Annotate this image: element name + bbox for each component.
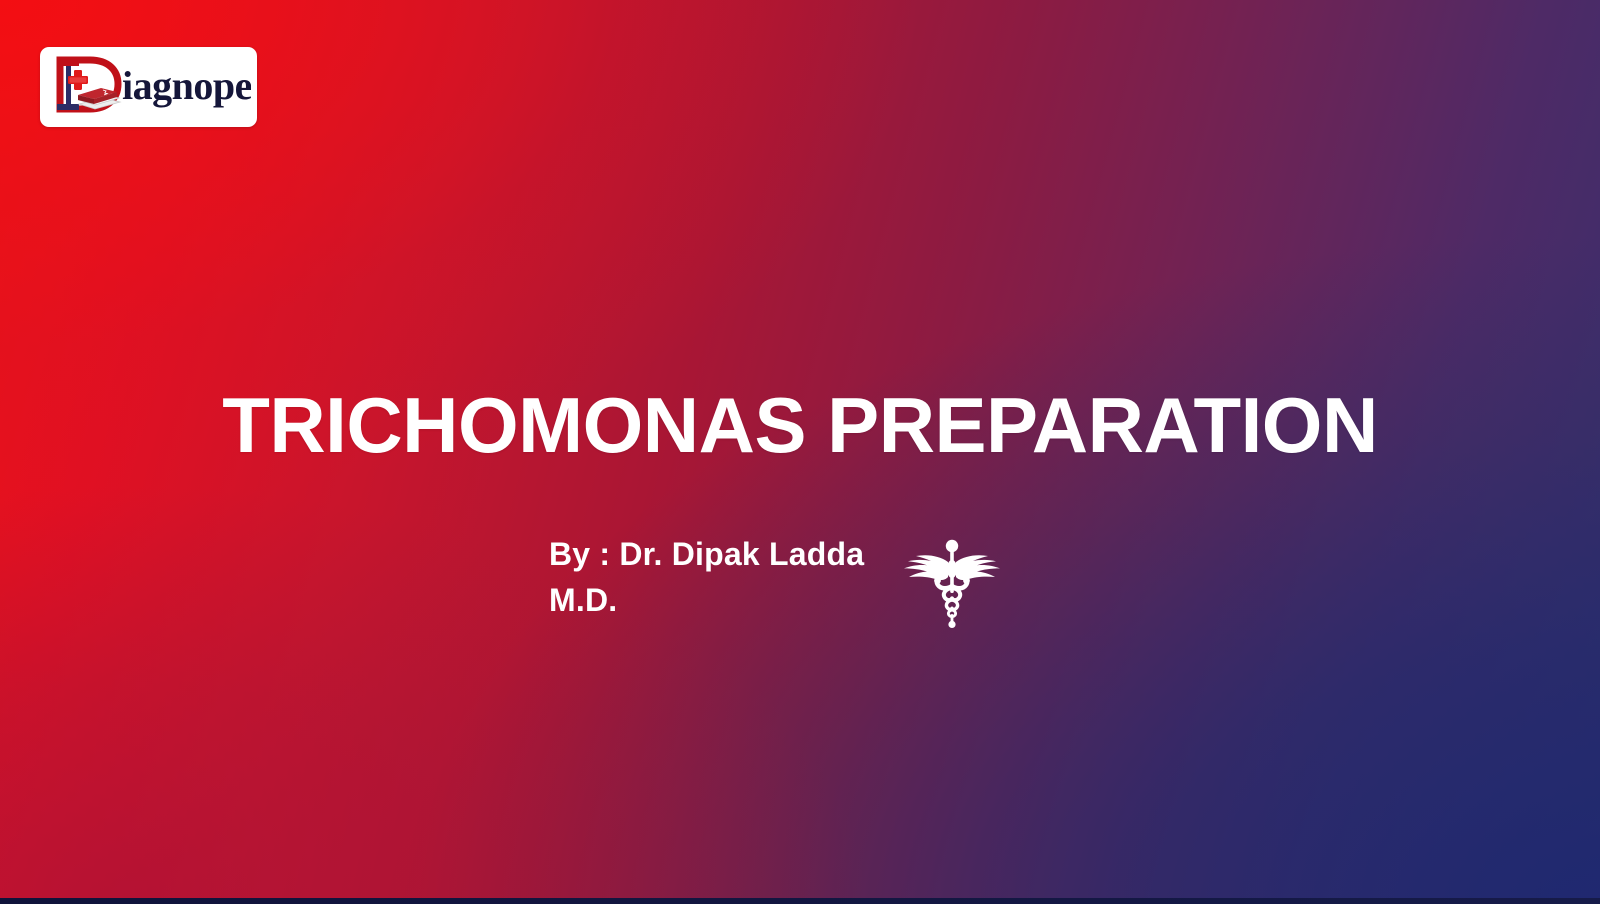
bottom-edge-strip xyxy=(0,898,1600,904)
caduceus-icon xyxy=(900,532,1004,632)
byline-degree: M.D. xyxy=(549,577,894,623)
byline-author: By : Dr. Dipak Ladda xyxy=(549,531,894,577)
byline-block: By : Dr. Dipak Ladda M.D. xyxy=(549,531,1004,632)
logo-wordmark: iagnopedia xyxy=(122,63,251,108)
page-title: TRICHOMONAS PREPARATION xyxy=(0,382,1600,468)
diagnopedia-logo-card[interactable]: iagnopedia xyxy=(40,47,257,127)
byline-text: By : Dr. Dipak Ladda M.D. xyxy=(549,531,894,623)
diagnopedia-logo-icon: iagnopedia xyxy=(46,52,251,122)
title-slide: iagnopedia TRICHOMONAS PREPARATION By : … xyxy=(0,0,1600,904)
logo-inner: iagnopedia xyxy=(40,47,257,127)
